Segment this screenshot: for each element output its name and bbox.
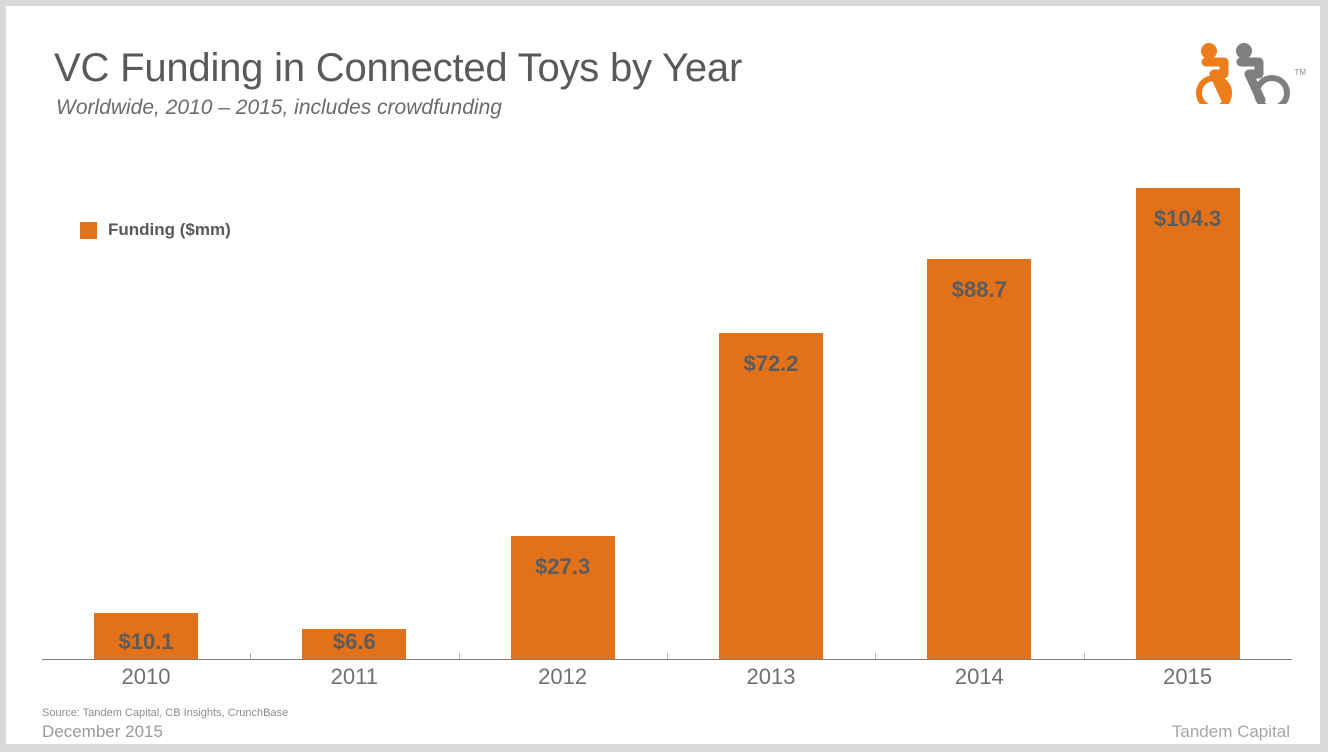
x-axis-tick — [459, 653, 460, 659]
bar-group: $10.1 — [42, 156, 250, 659]
bar-series: $10.1$6.6$27.3$72.2$88.7$104.3 — [42, 156, 1292, 659]
bar-group: $6.6 — [250, 156, 458, 659]
bar-group: $104.3 — [1084, 156, 1292, 659]
source-note: Source: Tandem Capital, CB Insights, Cru… — [42, 707, 288, 719]
slide-canvas: VC Funding in Connected Toys by Year Wor… — [6, 6, 1320, 744]
bar-value-label-2010: $10.1 — [94, 629, 198, 655]
x-axis-label-2014: 2014 — [875, 664, 1083, 690]
bar-group: $27.3 — [459, 156, 667, 659]
slide-date: December 2015 — [42, 722, 163, 742]
tandem-cyclists-icon — [1184, 38, 1304, 104]
page-title: VC Funding in Connected Toys by Year — [54, 46, 742, 91]
bar-group: $72.2 — [667, 156, 875, 659]
x-axis-tick-labels: 201020112012201320142015 — [42, 664, 1292, 704]
bar-value-label-2012: $27.3 — [511, 554, 615, 580]
x-axis-tick — [667, 653, 668, 659]
x-axis-tick — [875, 653, 876, 659]
bar-2014[interactable] — [927, 259, 1031, 659]
footer-company-name: Tandem Capital — [1172, 722, 1290, 742]
bar-value-label-2011: $6.6 — [302, 629, 406, 655]
trademark-mark: TM — [1294, 68, 1306, 77]
x-axis-label-2011: 2011 — [250, 664, 458, 690]
page-subtitle: Worldwide, 2010 – 2015, includes crowdfu… — [56, 96, 502, 120]
tandem-capital-logo: TM — [1184, 38, 1304, 104]
bar-group: $88.7 — [875, 156, 1083, 659]
bar-2015[interactable] — [1136, 188, 1240, 659]
bar-value-label-2013: $72.2 — [719, 351, 823, 377]
bar-2013[interactable] — [719, 333, 823, 659]
x-axis-label-2015: 2015 — [1084, 664, 1292, 690]
bar-value-label-2014: $88.7 — [927, 277, 1031, 303]
chart-plot-area: $10.1$6.6$27.3$72.2$88.7$104.3 201020112… — [42, 156, 1292, 660]
x-axis-line — [42, 659, 1292, 660]
x-axis-tick — [250, 653, 251, 659]
x-axis-label-2013: 2013 — [667, 664, 875, 690]
x-axis-label-2010: 2010 — [42, 664, 250, 690]
slide-background: VC Funding in Connected Toys by Year Wor… — [0, 0, 1328, 752]
x-axis-label-2012: 2012 — [459, 664, 667, 690]
bar-value-label-2015: $104.3 — [1136, 206, 1240, 232]
x-axis-tick — [1084, 653, 1085, 659]
